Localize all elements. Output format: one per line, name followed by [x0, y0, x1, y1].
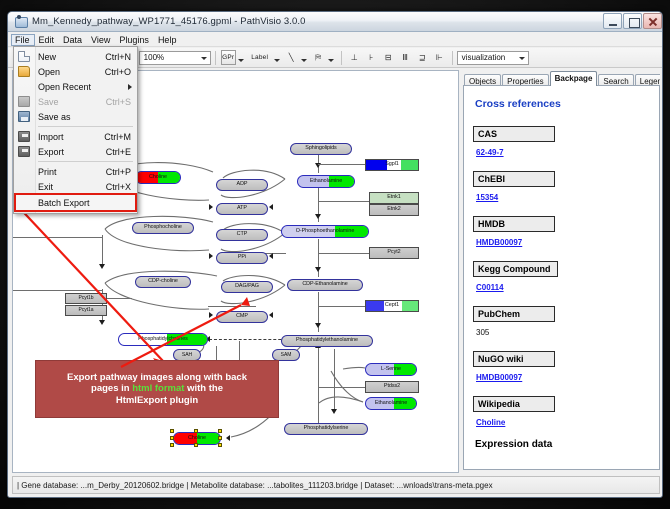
- line-button[interactable]: ╲: [284, 50, 299, 65]
- new-file-icon: [18, 51, 30, 62]
- menu-item-label: Save: [38, 97, 59, 107]
- xref-database-label: Kegg Compound: [473, 261, 558, 277]
- tab-backpage[interactable]: Backpage: [550, 71, 598, 86]
- same-height-button[interactable]: ⊩: [432, 50, 447, 65]
- save-icon: [18, 96, 30, 107]
- distribute-icon: Ⅲ: [402, 54, 408, 62]
- toolbar-separator-2: [341, 51, 342, 65]
- visualization-combobox[interactable]: visualization: [457, 51, 529, 65]
- label-icon: Label: [251, 54, 268, 61]
- menu-item-accelerator: Ctrl+E: [106, 147, 131, 157]
- same-height-icon: ⊩: [436, 54, 443, 62]
- menu-data[interactable]: Data: [59, 34, 87, 46]
- zoom-combobox[interactable]: 100%: [139, 51, 211, 65]
- side-panel-tabstrip: Objects Properties Backpage Search Legen…: [463, 70, 660, 86]
- window-controls: [603, 13, 662, 29]
- xref-database-label: NuGO wiki: [473, 351, 555, 367]
- visualization-value: visualization: [462, 53, 506, 62]
- menu-item-accelerator: Ctrl+P: [106, 167, 131, 177]
- same-width-icon: ⊒: [419, 54, 426, 62]
- menu-item-print[interactable]: Print Ctrl+P: [14, 164, 137, 179]
- datanode-dropdown-arrow[interactable]: [238, 59, 244, 62]
- menu-item-label: Save as: [38, 112, 71, 122]
- xref-block-chebi: ChEBI 15354: [473, 169, 652, 205]
- xref-block-cas: CAS 62-49-7: [473, 124, 652, 160]
- minimize-button[interactable]: [603, 13, 622, 29]
- menu-item-import[interactable]: Import Ctrl+M: [14, 129, 137, 144]
- xref-value-link[interactable]: HMDB00097: [476, 238, 522, 247]
- toolbar-separator-3: [452, 51, 453, 65]
- xref-value-link[interactable]: Choline: [476, 418, 505, 427]
- menu-item-label: New: [38, 52, 56, 62]
- file-menu-dropdown[interactable]: New Ctrl+N Open Ctrl+O Open Recent Save …: [13, 46, 138, 214]
- align-left-button[interactable]: ⊦: [364, 50, 379, 65]
- menu-separator: [38, 126, 133, 127]
- menu-help[interactable]: Help: [154, 34, 182, 46]
- menu-item-label: Open Recent: [38, 82, 91, 92]
- menu-item-accelerator: Ctrl+M: [104, 132, 131, 142]
- menu-item-save-as[interactable]: Save as: [14, 109, 137, 124]
- xref-database-label: ChEBI: [473, 171, 555, 187]
- xref-block-hmdb: HMDB HMDB00097: [473, 214, 652, 250]
- chevron-right-icon: [128, 84, 132, 90]
- label-dropdown-arrow[interactable]: [274, 59, 280, 62]
- line-dropdown-arrow[interactable]: [301, 59, 307, 62]
- save-as-icon: [18, 111, 30, 122]
- menu-item-label: Open: [38, 67, 60, 77]
- xref-block-wikipedia: Wikipedia Choline: [473, 394, 652, 430]
- cross-references-title: Cross references: [475, 98, 652, 110]
- menu-item-accelerator: Ctrl+N: [105, 52, 131, 62]
- menu-edit[interactable]: Edit: [35, 34, 60, 46]
- menu-separator: [38, 161, 133, 162]
- menu-item-new[interactable]: New Ctrl+N: [14, 49, 137, 64]
- distribute-button[interactable]: Ⅲ: [398, 50, 413, 65]
- maximize-button[interactable]: [623, 13, 642, 29]
- xref-value-text: 305: [476, 328, 489, 337]
- xref-database-label: PubChem: [473, 306, 555, 322]
- menu-item-export[interactable]: Export Ctrl+E: [14, 144, 137, 159]
- zoom-value: 100%: [144, 53, 164, 62]
- toolbar-separator-1: [215, 51, 216, 65]
- xref-value-link[interactable]: 62-49-7: [476, 148, 504, 157]
- menu-item-accelerator: Ctrl+X: [106, 182, 131, 192]
- menu-item-exit[interactable]: Exit Ctrl+X: [14, 179, 137, 194]
- desktop-background: Mm_Kennedy_pathway_WP1771_45176.gpml - P…: [0, 0, 670, 509]
- align-center-button[interactable]: ⊟: [381, 50, 396, 65]
- interaction-dropdown-arrow[interactable]: [328, 59, 334, 62]
- line-icon: ╲: [289, 54, 294, 62]
- side-panel: Objects Properties Backpage Search Legen…: [463, 70, 660, 473]
- align-top-icon: ⊥: [351, 54, 358, 62]
- menu-bar: File Edit Data View Plugins Help: [8, 33, 663, 47]
- menu-item-accelerator: Ctrl+O: [105, 67, 131, 77]
- menu-item-label: Export: [38, 147, 64, 157]
- menu-item-label: Batch Export: [38, 198, 90, 208]
- menu-item-open-recent[interactable]: Open Recent: [14, 79, 137, 94]
- menu-item-accelerator: Ctrl+S: [106, 97, 131, 107]
- export-icon: [18, 146, 30, 157]
- status-bar: | Gene database: ...m_Derby_20120602.bri…: [12, 476, 660, 494]
- align-top-button[interactable]: ⊥: [347, 50, 362, 65]
- xref-value-link[interactable]: 15354: [476, 193, 498, 202]
- menu-plugins[interactable]: Plugins: [115, 34, 154, 46]
- geneproduct-icon: GPr: [222, 54, 234, 61]
- pathvisio-application-window: Mm_Kennedy_pathway_WP1771_45176.gpml - P…: [7, 11, 663, 498]
- xref-value-link[interactable]: HMDB00097: [476, 373, 522, 382]
- label-button[interactable]: Label: [248, 50, 272, 65]
- align-left-icon: ⊦: [369, 54, 373, 62]
- xref-database-label: CAS: [473, 126, 555, 142]
- chevron-down-icon: [201, 57, 207, 60]
- xref-block-pubchem: PubChem 305: [473, 304, 652, 340]
- import-icon: [18, 131, 30, 142]
- interaction-button[interactable]: ⛿: [311, 50, 326, 65]
- window-title-bar: Mm_Kennedy_pathway_WP1771_45176.gpml - P…: [8, 12, 663, 32]
- xref-database-label: HMDB: [473, 216, 555, 232]
- menu-item-label: Import: [38, 132, 64, 142]
- menu-file[interactable]: File: [11, 34, 35, 46]
- backpage-content: Cross references CAS 62-49-7 ChEBI 15354…: [463, 85, 660, 470]
- menu-item-batch-export[interactable]: Batch Export: [16, 195, 135, 210]
- menu-view[interactable]: View: [87, 34, 115, 46]
- interaction-icon: ⛿: [315, 54, 321, 62]
- align-center-icon: ⊟: [385, 54, 392, 62]
- expression-data-title: Expression data: [475, 439, 652, 450]
- status-bar-text: | Gene database: ...m_Derby_20120602.bri…: [17, 481, 493, 490]
- same-width-button[interactable]: ⊒: [415, 50, 430, 65]
- window-title: Mm_Kennedy_pathway_WP1771_45176.gpml - P…: [32, 16, 306, 27]
- xref-block-kegg-compound: Kegg Compound C00114: [473, 259, 652, 295]
- xref-database-label: Wikipedia: [473, 396, 555, 412]
- menu-item-label: Print: [38, 167, 57, 177]
- chevron-down-icon: [519, 57, 525, 60]
- app-icon: [14, 15, 27, 28]
- close-button[interactable]: [643, 13, 662, 29]
- xref-value-link[interactable]: C00114: [476, 283, 504, 292]
- open-folder-icon: [18, 66, 30, 77]
- menu-item-label: Exit: [38, 182, 53, 192]
- datanode-button[interactable]: GPr: [221, 50, 236, 65]
- menu-item-open[interactable]: Open Ctrl+O: [14, 64, 137, 79]
- menu-item-save: Save Ctrl+S: [14, 94, 137, 109]
- xref-block-nugo-wiki: NuGO wiki HMDB00097: [473, 349, 652, 385]
